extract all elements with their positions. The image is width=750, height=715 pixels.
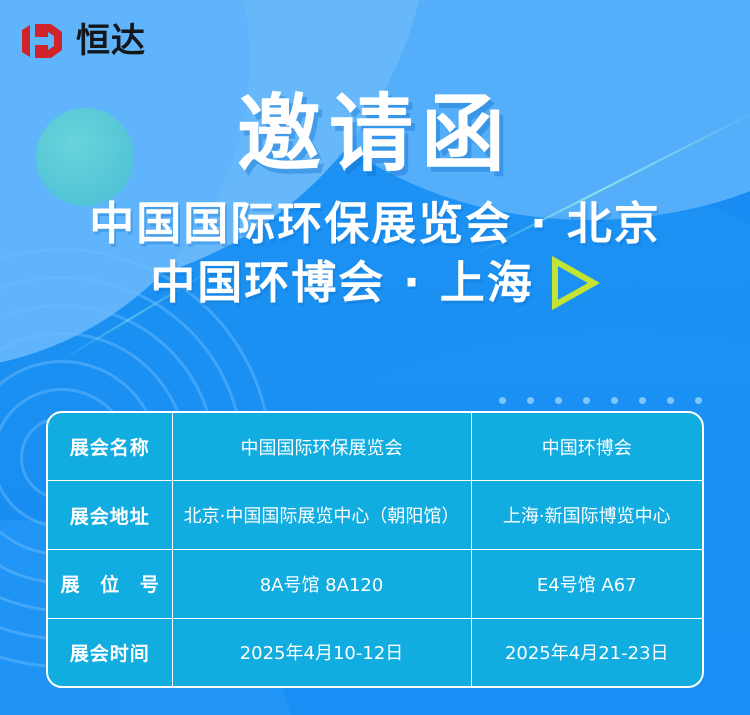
brand-logo: 恒达 [18,17,146,65]
row-shanghai-booth: E4号馆 A67 [471,549,702,618]
decor-dot [583,397,590,404]
row-beijing-booth: 8A号馆 8A120 [172,549,471,618]
table-row: 展 位 号 8A号馆 8A120 E4号馆 A67 [48,549,702,618]
page-title: 邀请函 [0,92,750,178]
table-row: 展会地址 北京·中国国际展览中心（朝阳馆） 上海·新国际博览中心 [48,481,702,550]
decor-dot [555,397,562,404]
row-label-address: 展会地址 [48,481,172,550]
decor-dot [527,397,534,404]
invitation-poster: 恒达 邀请函 中国国际环保展览会 · 北京 中国环博会 · 上海 展会名称 中国… [0,0,750,715]
play-triangle-icon [548,256,600,310]
row-beijing-name: 中国国际环保展览会 [172,413,471,481]
row-beijing-address: 北京·中国国际展览中心（朝阳馆） [172,481,471,550]
decor-dot [611,397,618,404]
row-shanghai-name: 中国环博会 [471,413,702,481]
row-shanghai-date: 2025年4月21-23日 [471,618,702,686]
row-label-name: 展会名称 [48,413,172,481]
row-label-date: 展会时间 [48,618,172,686]
hero-subtitle-line-1: 中国国际环保展览会 · 北京 [0,194,750,253]
decor-dot [499,397,506,404]
hero-subtitle-line-2: 中国环博会 · 上海 [150,253,533,312]
details-table-body: 展会名称 中国国际环保展览会 中国环博会 展会地址 北京·中国国际展览中心（朝阳… [48,413,702,686]
dot-row-decoration [499,397,702,404]
table-row: 展会时间 2025年4月10-12日 2025年4月21-23日 [48,618,702,686]
decor-dot [667,397,674,404]
details-table: 展会名称 中国国际环保展览会 中国环博会 展会地址 北京·中国国际展览中心（朝阳… [48,413,702,686]
hero-section: 邀请函 中国国际环保展览会 · 北京 中国环博会 · 上海 [0,92,750,312]
decor-dot [695,397,702,404]
row-beijing-date: 2025年4月10-12日 [172,618,471,686]
hero-subtitle: 中国国际环保展览会 · 北京 中国环博会 · 上海 [0,194,750,313]
hero-subtitle-line-2-group: 中国环博会 · 上海 [150,253,599,312]
exhibition-details-table: 展会名称 中国国际环保展览会 中国环博会 展会地址 北京·中国国际展览中心（朝阳… [46,411,704,688]
table-row: 展会名称 中国国际环保展览会 中国环博会 [48,413,702,481]
decor-dot [639,397,646,404]
row-shanghai-address: 上海·新国际博览中心 [471,481,702,550]
hengda-hexagon-logo-icon [18,17,66,65]
row-label-booth: 展 位 号 [48,549,172,618]
brand-logo-text: 恒达 [76,24,146,58]
